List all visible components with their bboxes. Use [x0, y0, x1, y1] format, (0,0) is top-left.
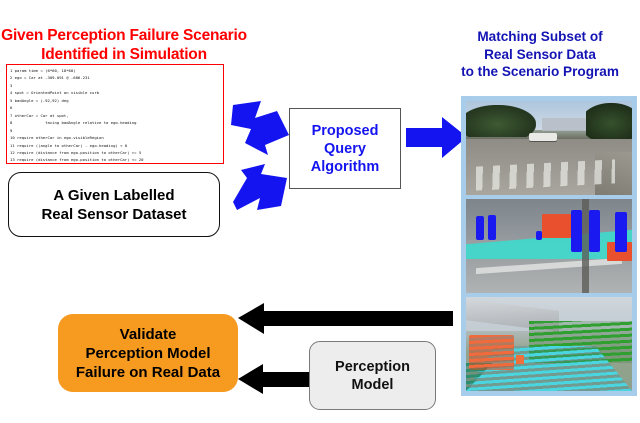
- truck-points: [469, 335, 514, 371]
- algorithm-line-3: Algorithm: [311, 158, 379, 176]
- arrow-dataset-to-algorithm-icon: [231, 158, 293, 210]
- perception-model-line-2: Model: [335, 376, 410, 394]
- left-heading-line-1: Given Perception Failure Scenario: [0, 26, 248, 45]
- left-heading: Given Perception Failure Scenario Identi…: [0, 26, 248, 64]
- validate-line-1: Validate: [76, 325, 220, 344]
- labelled-dataset-line-1: A Given Labelled: [41, 186, 186, 205]
- validate-perception-failure-box[interactable]: Validate Perception Model Failure on Rea…: [58, 314, 238, 392]
- building-region: [542, 118, 585, 131]
- pedestrian-segment-1: [476, 216, 484, 240]
- proposed-query-algorithm-label: Proposed Query Algorithm: [311, 122, 379, 176]
- right-heading: Matching Subset of Real Sensor Data to t…: [440, 28, 640, 81]
- matching-sensor-image-stack: [461, 96, 637, 396]
- barrier-segment-1: [542, 214, 570, 238]
- lidar-segmentation-image: [466, 297, 632, 391]
- labelled-dataset-label: A Given Labelled Real Sensor Dataset: [41, 186, 186, 224]
- algorithm-line-2: Query: [311, 140, 379, 158]
- right-heading-line-3: to the Scenario Program: [440, 63, 640, 81]
- scenario-code-text: 1 param time = (6*60, 18*60) 2 ego = Car…: [10, 67, 222, 164]
- scenario-code-block: 1 param time = (6*60, 18*60) 2 ego = Car…: [6, 64, 224, 164]
- validate-label: Validate Perception Model Failure on Rea…: [76, 325, 220, 382]
- tree-right: [586, 103, 632, 141]
- algorithm-line-1: Proposed: [311, 122, 379, 140]
- arrow-model-to-validate-icon: [238, 364, 316, 394]
- arrow-results-to-validate-icon: [238, 303, 453, 334]
- tree-left: [466, 105, 536, 137]
- segmentation-overlay-image: [466, 199, 632, 293]
- camera-street-scene-image: [466, 101, 632, 195]
- pedestrian-segment-5: [615, 212, 627, 251]
- pedestrian-segment-3: [571, 210, 583, 251]
- parked-truck: [529, 133, 557, 141]
- pedestrian-segment-2: [488, 215, 496, 240]
- right-heading-line-2: Real Sensor Data: [440, 46, 640, 64]
- labelled-dataset-line-2: Real Sensor Dataset: [41, 205, 186, 224]
- arrow-algorithm-to-results-icon: [406, 115, 468, 160]
- proposed-query-algorithm-box[interactable]: Proposed Query Algorithm: [289, 108, 401, 189]
- perception-model-line-1: Perception: [335, 358, 410, 376]
- cone-points: [516, 355, 524, 363]
- labelled-dataset-box[interactable]: A Given Labelled Real Sensor Dataset: [8, 172, 220, 237]
- left-heading-line-2: Identified in Simulation: [0, 45, 248, 64]
- object-segment-small: [536, 231, 543, 240]
- right-heading-line-1: Matching Subset of: [440, 28, 640, 46]
- arrow-scenario-to-algorithm-icon: [231, 101, 293, 155]
- validate-line-2: Perception Model: [76, 344, 220, 363]
- pole-region: [582, 199, 589, 293]
- pedestrian-segment-4: [589, 210, 601, 251]
- perception-model-box[interactable]: Perception Model: [309, 341, 436, 410]
- perception-model-label: Perception Model: [335, 358, 410, 394]
- validate-line-3: Failure on Real Data: [76, 363, 220, 382]
